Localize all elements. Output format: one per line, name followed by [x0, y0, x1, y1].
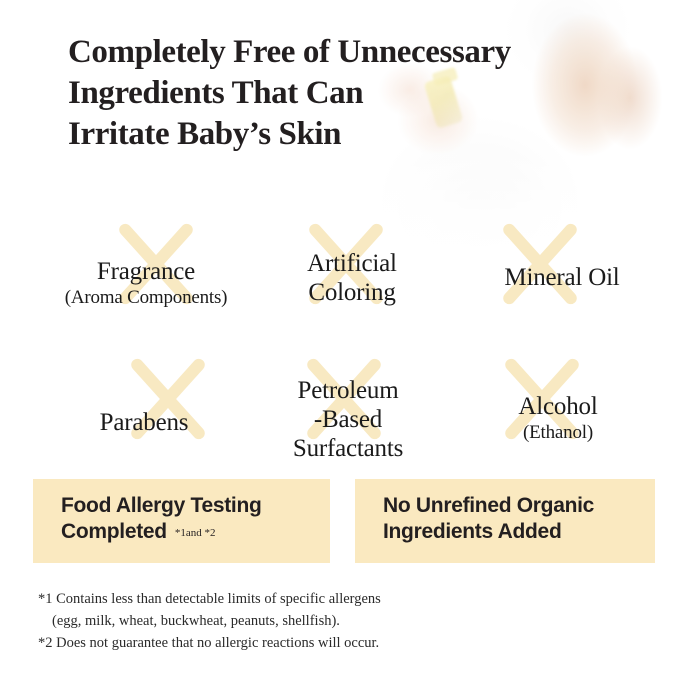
ingredient-item-fragrance: Fragrance (Aroma Components)	[46, 198, 246, 333]
ingredient-item-artificial-coloring: Artificial Coloring	[246, 198, 446, 333]
claim-boxes: Food Allergy Testing Completed*1and *2 N…	[33, 479, 655, 563]
ingredient-name: Petroleum -Based Surfactants	[293, 377, 403, 462]
claim-label: Food Allergy Testing Completed	[61, 494, 262, 543]
ingredient-label: Parabens	[44, 379, 244, 437]
ingredient-item-parabens: Parabens	[46, 333, 246, 468]
ingredient-name: Artificial Coloring	[307, 250, 397, 306]
footnotes: *1 Contains less than detectable limits …	[38, 588, 638, 654]
ingredient-name: Fragrance	[97, 258, 195, 285]
ingredient-label: Alcohol (Ethanol)	[458, 363, 658, 474]
claim-footnote-ref: *1and *2	[175, 527, 216, 539]
ingredient-sublabel: (Aroma Components)	[34, 286, 258, 310]
ingredient-label: Fragrance (Aroma Components)	[34, 228, 258, 339]
claim-text: Food Allergy Testing Completed*1and *2	[61, 493, 330, 546]
ingredient-sublabel: (Ethanol)	[458, 421, 658, 445]
ingredient-label: Artificial Coloring	[252, 220, 452, 307]
page-title: Completely Free of Unnecessary Ingredien…	[68, 32, 643, 155]
ingredient-name: Parabens	[100, 409, 189, 436]
ingredient-row-1: Fragrance (Aroma Components) Artificial …	[46, 198, 646, 333]
excluded-ingredients-grid: Fragrance (Aroma Components) Artificial …	[46, 198, 646, 468]
claim-text: No Unrefined Organic Ingredients Added	[383, 493, 655, 545]
ingredient-label: Mineral Oil	[462, 234, 662, 292]
ingredient-row-2: Parabens Petroleum -Based Surfactants Al…	[46, 333, 646, 468]
infographic-page: Completely Free of Unnecessary Ingredien…	[0, 0, 679, 679]
ingredient-label: Petroleum -Based Surfactants	[248, 347, 448, 463]
ingredient-item-petroleum-based-surfactants: Petroleum -Based Surfactants	[246, 333, 446, 468]
footnote-line-3: *2 Does not guarantee that no allergic r…	[38, 632, 638, 654]
ingredient-name: Mineral Oil	[504, 264, 619, 291]
footnote-line-1: *1 Contains less than detectable limits …	[38, 588, 638, 610]
ingredient-name: Alcohol	[518, 393, 597, 420]
claim-box-no-unrefined-organic: No Unrefined Organic Ingredients Added	[355, 479, 655, 563]
footnote-line-2: (egg, milk, wheat, buckwheat, peanuts, s…	[38, 610, 638, 632]
claim-label: No Unrefined Organic Ingredients Added	[383, 494, 594, 543]
claim-box-food-allergy-testing: Food Allergy Testing Completed*1and *2	[33, 479, 330, 563]
ingredient-item-alcohol: Alcohol (Ethanol)	[446, 333, 646, 468]
ingredient-item-mineral-oil: Mineral Oil	[446, 198, 646, 333]
